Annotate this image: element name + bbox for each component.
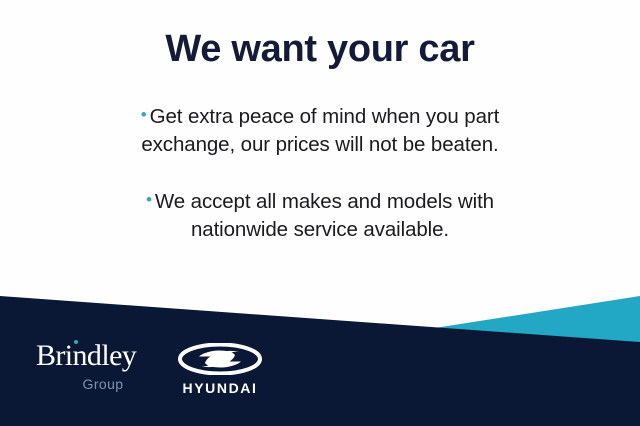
hyundai-wordmark: HYUNDAI	[178, 381, 262, 395]
logo-row: Brindley Group HYUNDAI	[34, 341, 262, 395]
hyundai-ellipse-icon	[178, 343, 262, 375]
brindley-wordmark: Brindley	[34, 341, 154, 371]
bullet-text-2b: nationwide service available.	[0, 216, 640, 244]
brindley-group-logo: Brindley Group	[34, 341, 154, 391]
promo-slide: We want your car •Get extra peace of min…	[0, 0, 640, 426]
brindley-dot-icon	[74, 340, 78, 344]
brindley-sub-label: Group	[34, 377, 154, 391]
teal-accent-shape	[300, 296, 640, 349]
bullet-marker-icon: •	[141, 105, 150, 124]
bullet-line-2: •We accept all makes and models with	[0, 188, 640, 216]
text-content: We want your car •Get extra peace of min…	[0, 0, 640, 296]
bullet-line-1: •Get extra peace of mind when you part	[0, 103, 640, 131]
bullet-text-1a: Get extra peace of mind when you part	[150, 105, 500, 128]
bullet-text-1b: exchange, our prices will not be beaten.	[0, 131, 640, 159]
hyundai-logo: HYUNDAI	[178, 341, 262, 395]
list-item: •We accept all makes and models with nat…	[0, 188, 640, 244]
list-item: •Get extra peace of mind when you part e…	[0, 103, 640, 159]
bullet-marker-icon: •	[146, 190, 155, 209]
bullet-text-2a: We accept all makes and models with	[155, 190, 494, 213]
benefits-list: •Get extra peace of mind when you part e…	[0, 103, 640, 244]
page-title: We want your car	[0, 0, 640, 72]
